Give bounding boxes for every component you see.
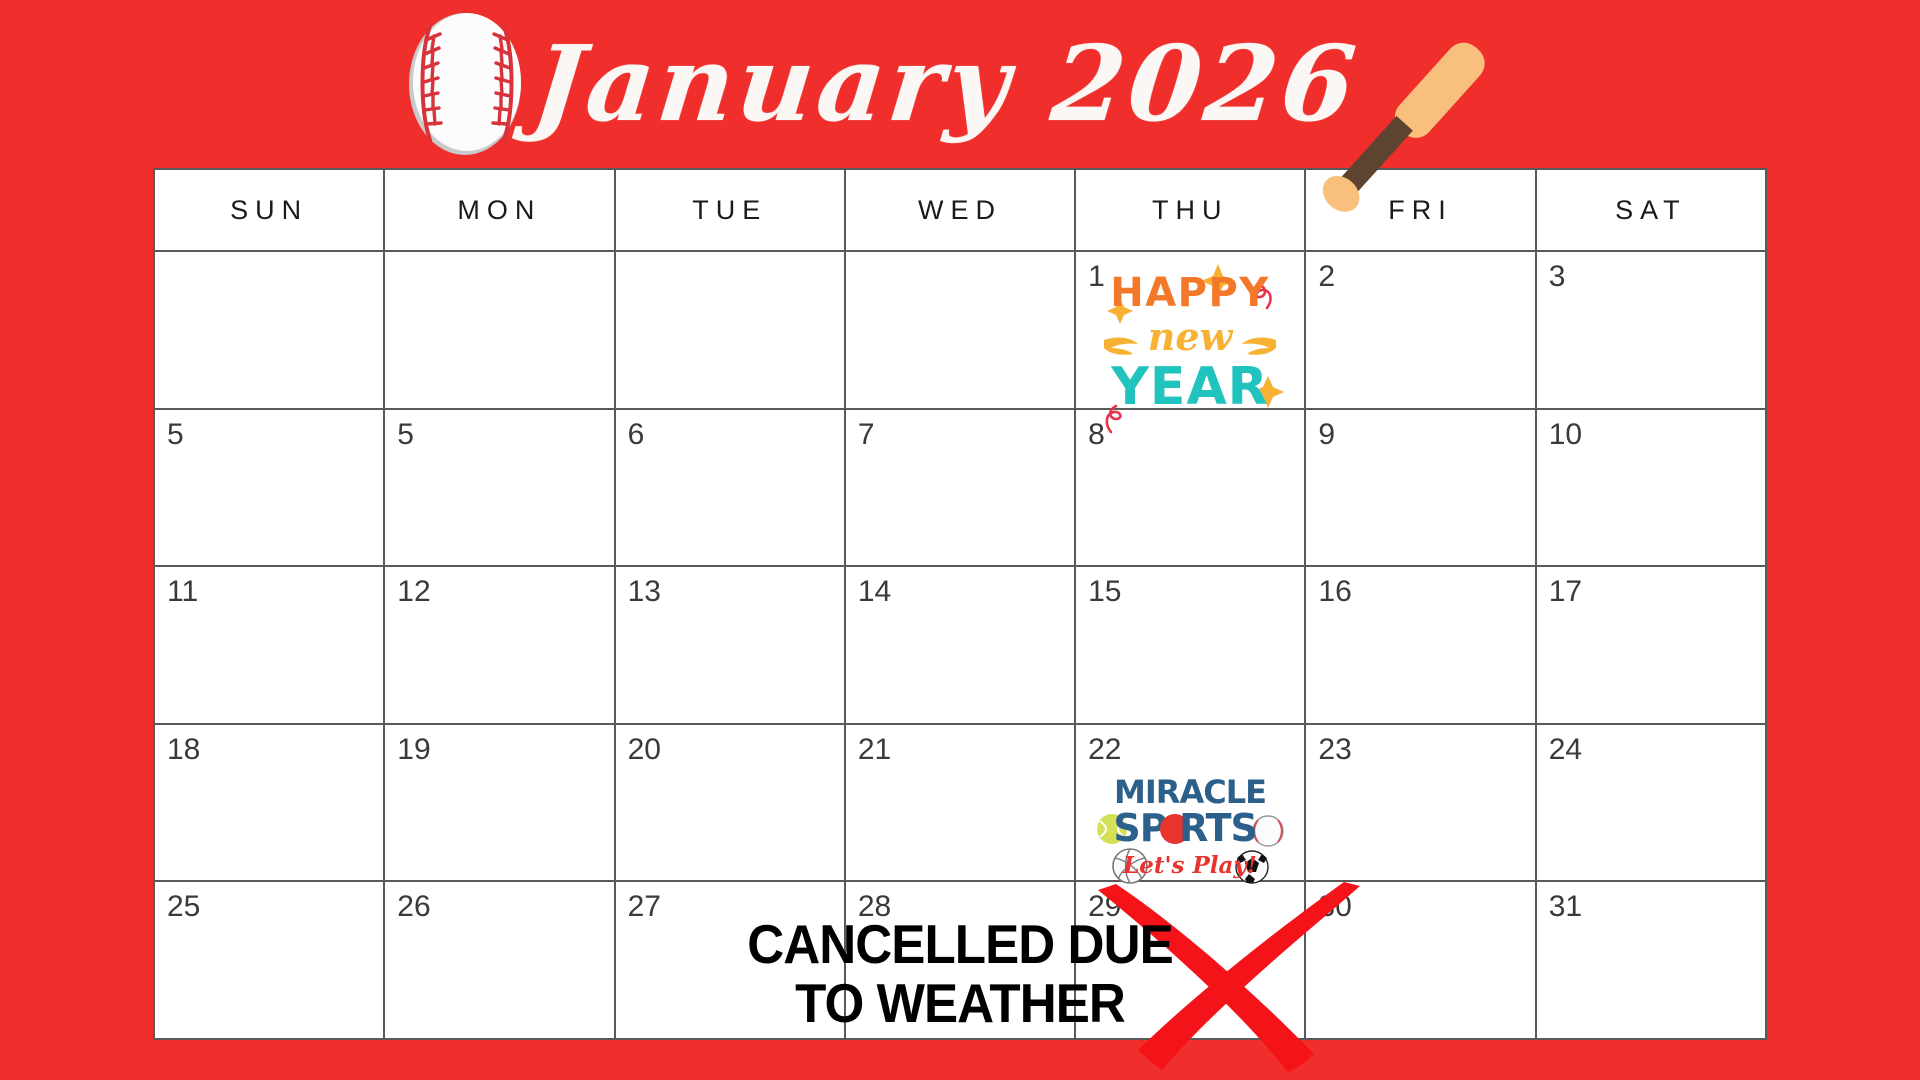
- day-number: 29: [1088, 890, 1121, 923]
- day-number: 30: [1318, 890, 1351, 923]
- day-number: 28: [858, 890, 891, 923]
- day-number: 23: [1318, 733, 1351, 766]
- day-cell[interactable]: 14: [844, 567, 1074, 723]
- day-cell[interactable]: [155, 252, 383, 408]
- calendar-week-row: 1 HAPPY new: [155, 250, 1765, 408]
- day-cell[interactable]: 6: [614, 410, 844, 566]
- day-number: 8: [1088, 418, 1105, 451]
- page-title: January 2026: [528, 32, 1363, 136]
- day-cell[interactable]: 16: [1304, 567, 1534, 723]
- baseball-icon: [406, 10, 524, 158]
- calendar-week-row: 5 5 6 7 8 9 10: [155, 408, 1765, 566]
- day-number: 10: [1549, 418, 1582, 451]
- day-cell[interactable]: 2: [1304, 252, 1534, 408]
- day-cell[interactable]: [383, 252, 613, 408]
- day-number: 6: [628, 418, 645, 451]
- day-cell[interactable]: 10: [1535, 410, 1765, 566]
- day-number: 3: [1549, 260, 1566, 293]
- weekday-header-thu: THU: [1074, 170, 1304, 250]
- ny-line3: YEAR: [1111, 357, 1269, 417]
- calendar-header-band: January 2026: [0, 0, 1920, 168]
- calendar-week-row: 18 19 20 21 22: [155, 723, 1765, 881]
- day-cell[interactable]: [614, 252, 844, 408]
- day-cell[interactable]: 5: [155, 410, 383, 566]
- day-cell[interactable]: 24: [1535, 725, 1765, 881]
- day-cell[interactable]: 23: [1304, 725, 1534, 881]
- ms-tagline: Let's Play!: [1122, 852, 1257, 879]
- day-cell[interactable]: 18: [155, 725, 383, 881]
- calendar-week-row: 25 26 27 28 29 30 31: [155, 880, 1765, 1038]
- day-number: 14: [858, 575, 891, 608]
- weekday-header-mon: MON: [383, 170, 613, 250]
- day-number: 15: [1088, 575, 1121, 608]
- day-cell[interactable]: 19: [383, 725, 613, 881]
- weekday-header-row: SUN MON TUE WED THU FRI SAT: [155, 170, 1765, 250]
- day-cell[interactable]: 27: [614, 882, 844, 1038]
- day-cell[interactable]: 17: [1535, 567, 1765, 723]
- day-cell[interactable]: 20: [614, 725, 844, 881]
- day-cell-jan-1[interactable]: 1 HAPPY new: [1074, 252, 1304, 408]
- day-number: 16: [1318, 575, 1351, 608]
- miracle-sports-logo: MIRACLE SP RTS Let's Play!: [1092, 769, 1288, 889]
- weekday-header-sat: SAT: [1535, 170, 1765, 250]
- day-cell[interactable]: 3: [1535, 252, 1765, 408]
- day-cell[interactable]: 25: [155, 882, 383, 1038]
- day-cell[interactable]: 5: [383, 410, 613, 566]
- day-cell[interactable]: 21: [844, 725, 1074, 881]
- day-cell[interactable]: [844, 252, 1074, 408]
- day-cell[interactable]: 26: [383, 882, 613, 1038]
- day-number: 12: [397, 575, 430, 608]
- day-number: 2: [1318, 260, 1335, 293]
- day-cell-jan-22[interactable]: 22: [1074, 725, 1304, 881]
- weekday-header-sun: SUN: [155, 170, 383, 250]
- ny-line2: new: [1148, 314, 1234, 359]
- day-cell[interactable]: 9: [1304, 410, 1534, 566]
- day-cell[interactable]: 13: [614, 567, 844, 723]
- day-cell[interactable]: 12: [383, 567, 613, 723]
- day-number: 31: [1549, 890, 1582, 923]
- day-cell-jan-29[interactable]: 29: [1074, 882, 1304, 1038]
- calendar-week-row: 11 12 13 14 15 16 17: [155, 565, 1765, 723]
- day-number: 26: [397, 890, 430, 923]
- day-number: 22: [1088, 733, 1121, 766]
- weekday-header-tue: TUE: [614, 170, 844, 250]
- day-number: 21: [858, 733, 891, 766]
- day-number: 5: [397, 418, 414, 451]
- baseball-icon: [1253, 816, 1283, 846]
- day-cell[interactable]: 15: [1074, 567, 1304, 723]
- day-number: 9: [1318, 418, 1335, 451]
- day-number: 7: [858, 418, 875, 451]
- day-number: 5: [167, 418, 184, 451]
- day-number: 1: [1088, 260, 1105, 293]
- day-number: 11: [167, 575, 198, 608]
- happy-new-year-graphic: HAPPY new YEAR: [1090, 258, 1290, 438]
- day-number: 27: [628, 890, 661, 923]
- ny-line1: HAPPY: [1111, 270, 1271, 316]
- weekday-header-fri: FRI: [1304, 170, 1534, 250]
- day-cell[interactable]: 30: [1304, 882, 1534, 1038]
- ms-line2-left: SP: [1114, 806, 1167, 850]
- day-cell[interactable]: 31: [1535, 882, 1765, 1038]
- weekday-header-wed: WED: [844, 170, 1074, 250]
- day-number: 25: [167, 890, 200, 923]
- calendar-grid: SUN MON TUE WED THU FRI SAT 1: [153, 168, 1767, 1040]
- day-number: 17: [1549, 575, 1582, 608]
- day-number: 20: [628, 733, 661, 766]
- day-cell[interactable]: 7: [844, 410, 1074, 566]
- day-cell[interactable]: 11: [155, 567, 383, 723]
- day-number: 18: [167, 733, 200, 766]
- day-number: 24: [1549, 733, 1582, 766]
- day-number: 19: [397, 733, 430, 766]
- day-number: 13: [628, 575, 661, 608]
- ms-line2-right: RTS: [1179, 806, 1257, 850]
- day-cell[interactable]: 28: [844, 882, 1074, 1038]
